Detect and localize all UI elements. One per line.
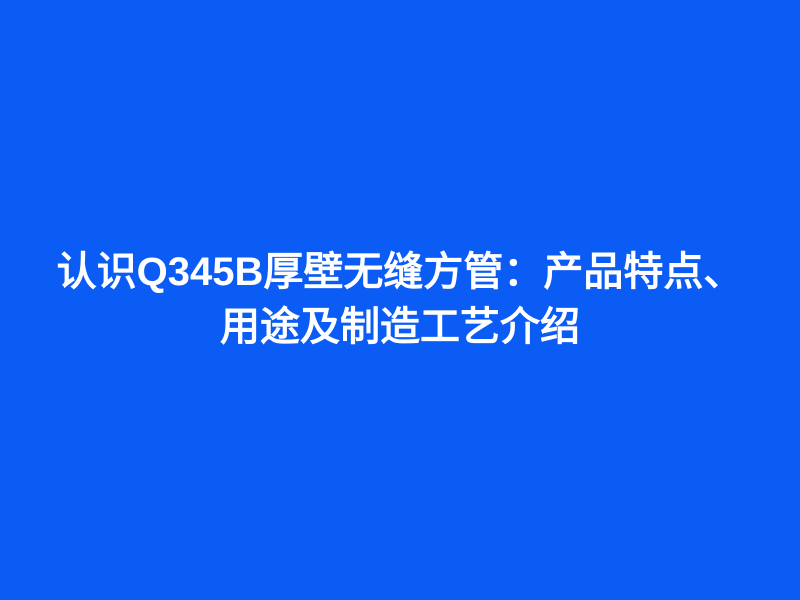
title-block: 认识Q345B厚壁无缝方管：产品特点、用途及制造工艺介绍 <box>45 245 755 355</box>
title-card: 认识Q345B厚壁无缝方管：产品特点、用途及制造工艺介绍 <box>0 0 800 600</box>
page-title: 认识Q345B厚壁无缝方管：产品特点、用途及制造工艺介绍 <box>45 245 755 355</box>
